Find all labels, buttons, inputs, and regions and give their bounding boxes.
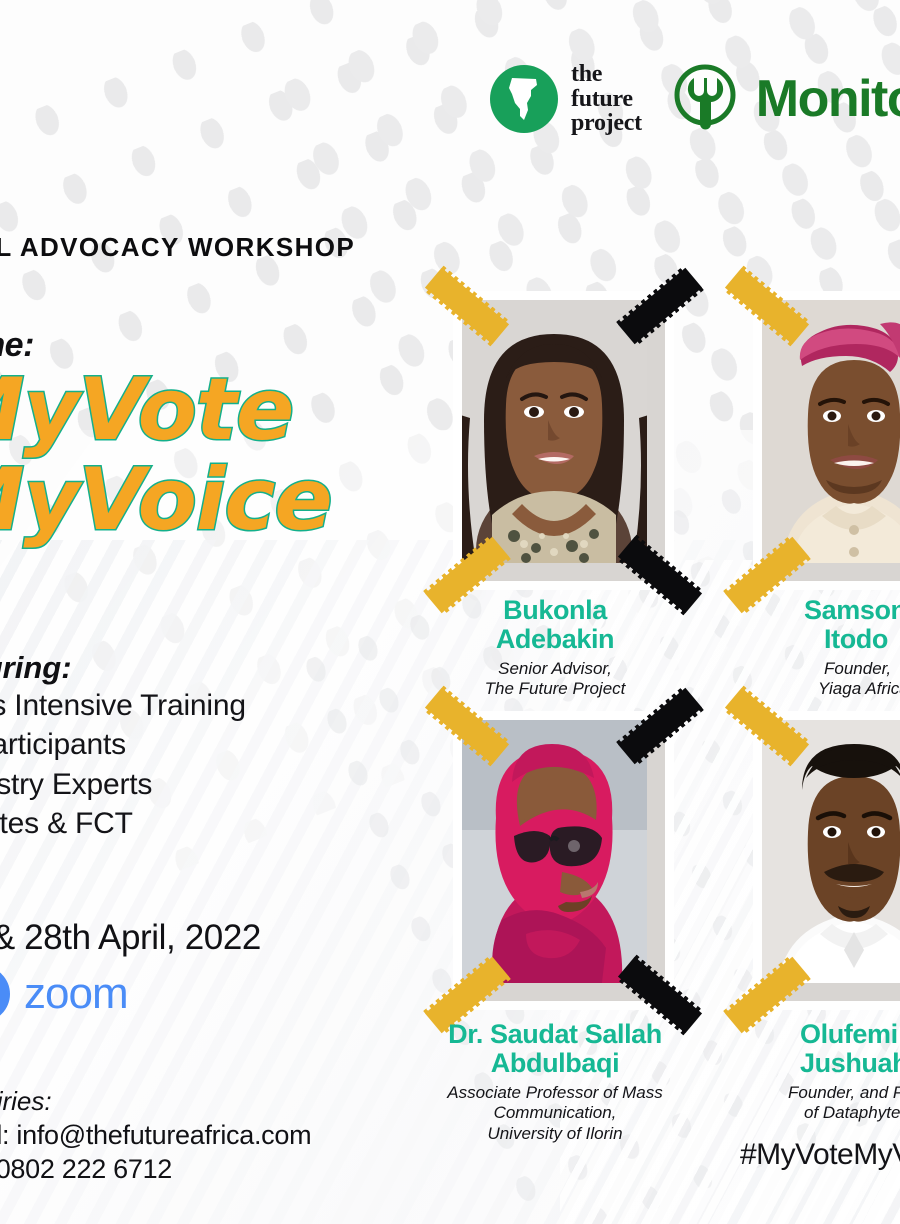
logo-row: the future project Monitor <box>490 62 900 136</box>
zoom-camera-icon <box>0 966 10 1022</box>
speaker-role-line-1: Associate Professor of Mass <box>425 1083 685 1103</box>
speaker-role-line-2: Communication, <box>425 1103 685 1123</box>
contact-block: Enquiries: Email: info@thefutureafrica.c… <box>0 1086 311 1187</box>
poster-canvas: the future project Monitor SOCIAL ADVOCA… <box>0 0 900 1224</box>
list-item: 2 Days Intensive Training <box>0 688 434 723</box>
speaker-name-line-1: Dr. Saudat Sallah <box>425 1020 685 1049</box>
speaker-card-4 <box>753 711 900 1010</box>
speaker-caption-1: Bukonla Adebakin Senior Advisor, The Fut… <box>435 596 675 700</box>
speaker-role-line-1: Founder, <box>742 659 900 679</box>
speaker-card-3 <box>453 711 674 1010</box>
speaker-name-line-2: Itodo <box>742 625 900 654</box>
speaker-caption-2: Samson Itodo Founder, Yiaga Africa <box>742 596 900 700</box>
campaign-title: #MyVote #MyVoice <box>0 368 520 549</box>
speaker-role-line-2: Yiaga Africa <box>742 679 900 699</box>
zoom-platform: zoom <box>0 966 128 1022</box>
speaker-role-line-2: of Dataphyte <box>742 1103 900 1123</box>
tfp-line-1: the <box>571 62 642 86</box>
zoom-camera-glyph <box>0 966 10 1022</box>
speaker-photo-frame-1 <box>453 291 674 590</box>
zoom-wordmark: zoom <box>24 969 128 1019</box>
speaker-photo-frame-3 <box>453 711 674 1010</box>
speaker-photo-frame-2 <box>753 291 900 590</box>
logo-the-future-project: the future project <box>490 62 642 135</box>
logo-monitor: Monitor <box>668 62 900 136</box>
list-item: 36 States & FCT <box>0 806 434 841</box>
speaker-name-line-1: Bukonla <box>435 596 675 625</box>
africa-globe-icon <box>490 65 558 133</box>
contact-phone: Call: 0802 222 6712 <box>0 1153 311 1187</box>
speaker-role-line-2: The Future Project <box>435 679 675 699</box>
title-line-1: #MyVote <box>0 368 520 452</box>
speaker-photo-frame-4 <box>753 711 900 1010</box>
speaker-role-line-3: University of Ilorin <box>425 1124 685 1144</box>
speaker-caption-4: Olufemi Jushuah Founder, and Publisher o… <box>742 1020 900 1124</box>
campaign-hashtag: #MyVoteMyVoice <box>740 1138 900 1172</box>
event-date: 27th & 28th April, 2022 <box>0 918 261 958</box>
title-line-2: #MyVoice <box>0 458 520 542</box>
speaker-role-line-1: Senior Advisor, <box>435 659 675 679</box>
featuring-label: Featuring: <box>0 650 72 686</box>
speaker-role-line-1: Founder, and Publisher <box>742 1083 900 1103</box>
tfp-line-2: future <box>571 87 642 111</box>
contact-email: Email: info@thefutureafrica.com <box>0 1119 311 1153</box>
speaker-card-2 <box>753 291 900 590</box>
speaker-name-line-1: Samson <box>742 596 900 625</box>
featuring-list: 2 Days Intensive Training 100 Participan… <box>0 688 434 846</box>
contact-heading: Enquiries: <box>0 1086 311 1117</box>
list-item: 100 Participants <box>0 727 434 762</box>
speaker-name-line-2: Adebakin <box>435 625 675 654</box>
speaker-name-line-2: Abdulbaqi <box>425 1049 685 1078</box>
list-item: 8 Industry Experts <box>0 767 434 802</box>
africa-map-icon <box>506 76 542 122</box>
monitor-wordmark: Monitor <box>756 69 900 129</box>
speaker-name-line-2: Jushuah <box>742 1049 900 1078</box>
speaker-portrait-2 <box>762 300 900 581</box>
tfp-line-3: project <box>571 111 642 135</box>
speaker-portrait-4 <box>762 720 900 1001</box>
monitor-wrench-icon <box>668 62 742 136</box>
speaker-name-line-1: Olufemi <box>742 1020 900 1049</box>
speaker-caption-3: Dr. Saudat Sallah Abdulbaqi Associate Pr… <box>425 1020 685 1144</box>
workshop-kicker: SOCIAL ADVOCACY WORKSHOP <box>0 232 426 263</box>
logo-future-project-wordmark: the future project <box>571 62 642 135</box>
speaker-card-1 <box>453 291 674 590</box>
